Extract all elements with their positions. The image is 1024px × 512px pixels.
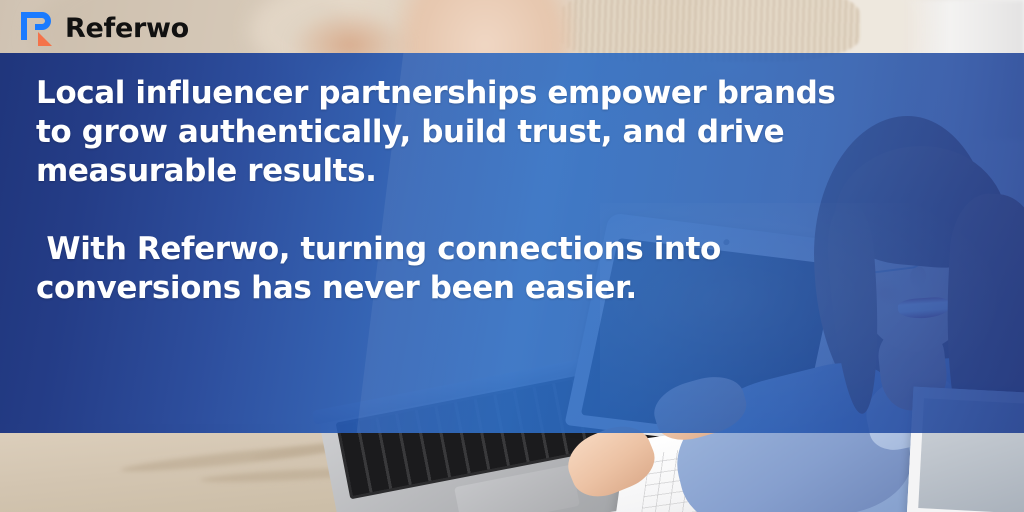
brand-logo[interactable]: Referwo: [18, 8, 189, 48]
brand-wordmark: Referwo: [65, 15, 189, 42]
headline-paragraph-1: Local influencer partnerships empower br…: [36, 74, 866, 191]
referwo-promo-banner: Referwo Local influencer partnerships em…: [0, 0, 1024, 512]
headline-paragraph-2: With Referwo, turning connections into c…: [36, 230, 866, 308]
headline-copy: Local influencer partnerships empower br…: [36, 74, 866, 308]
referwo-logo-mark: [18, 10, 56, 46]
